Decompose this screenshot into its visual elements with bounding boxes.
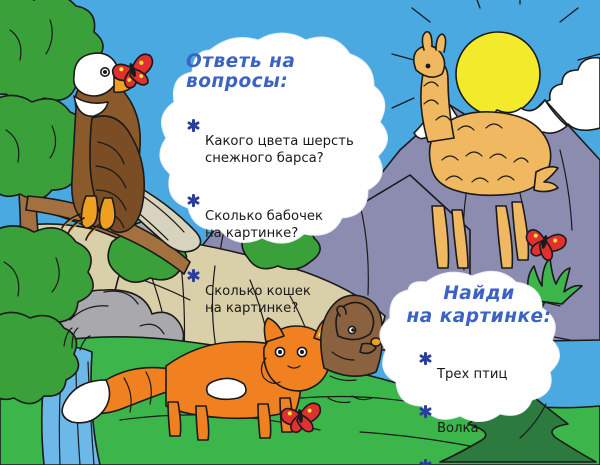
find-item-2: Волка: [418, 388, 558, 438]
illustration-scene: .ol{stroke:#1a1a1a;stroke-width:1.6;stro…: [0, 0, 600, 465]
question-item-3: Сколько кошек на картинке?: [186, 251, 372, 317]
questions-list: Какого цвета шерсть снежного барса? Скол…: [186, 101, 372, 317]
asterisk-icon: [186, 251, 201, 267]
questions-bubble: Ответь на вопросы: Какого цвета шерсть с…: [166, 34, 384, 262]
find-list: Трех птиц Волка: [400, 334, 558, 465]
question-item-2: Сколько бабочек на картинке?: [186, 176, 372, 242]
asterisk-icon: [186, 176, 201, 192]
asterisk-icon: [418, 388, 433, 404]
find-item-1: Трех птиц: [418, 334, 558, 384]
question-item-1: Какого цвета шерсть снежного барса?: [186, 101, 372, 167]
asterisk-icon: [418, 441, 433, 457]
question-text-2: Сколько бабочек на картинке?: [205, 209, 323, 241]
questions-bubble-title: Ответь на вопросы:: [186, 52, 372, 92]
sun: [456, 32, 540, 116]
asterisk-icon: [186, 101, 201, 117]
find-text-2: Волка: [437, 421, 479, 436]
find-item-3: Рысь: [418, 441, 558, 465]
marmot-food: [371, 338, 381, 346]
find-bubble-title-line2: на картинке:: [400, 305, 558, 328]
question-text-1: Какого цвета шерсть снежного барса?: [205, 134, 354, 166]
asterisk-icon: [418, 334, 433, 350]
find-bubble: Найди на картинке: Трех птиц: [386, 268, 572, 434]
find-text-1: Трех птиц: [437, 367, 507, 382]
question-text-3: Сколько кошек на картинке?: [205, 284, 311, 316]
find-bubble-title-line1: Найди: [400, 282, 558, 305]
